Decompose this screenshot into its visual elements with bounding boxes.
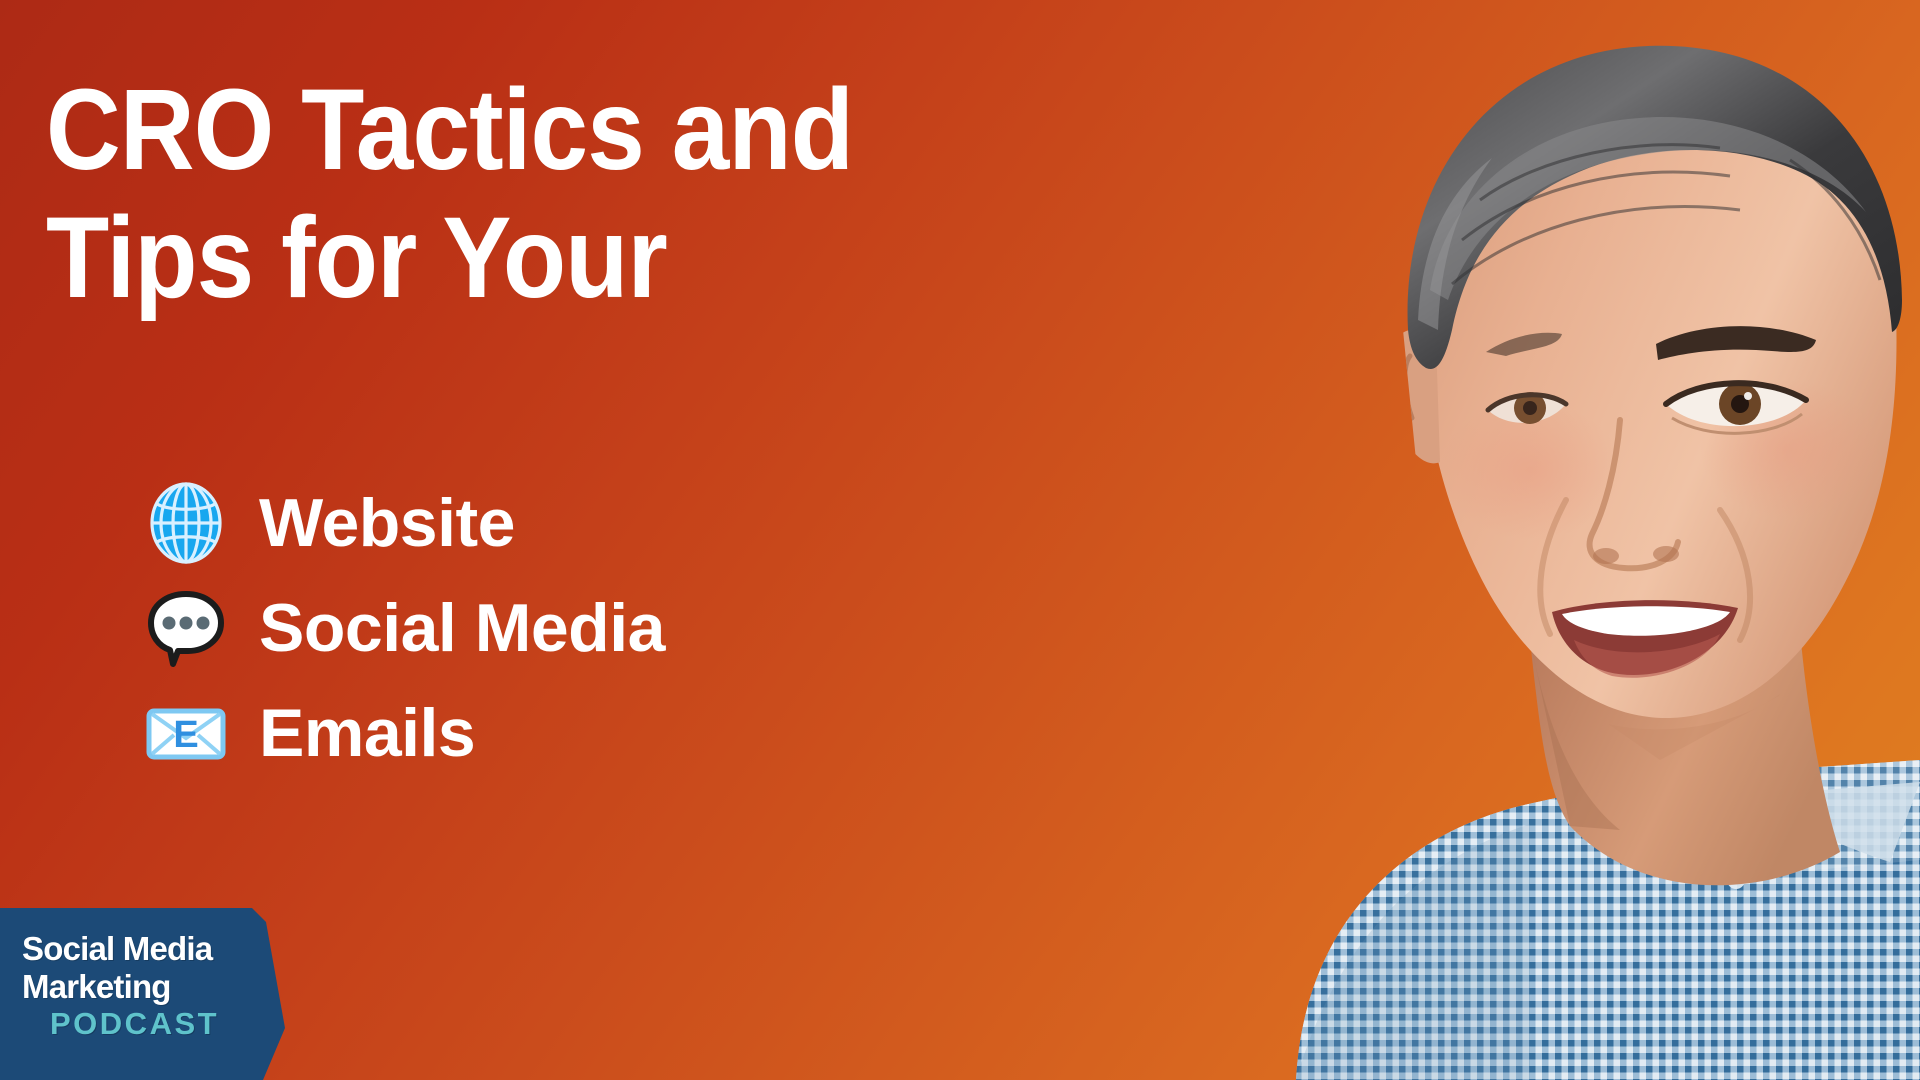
host-portrait-photo [1100, 0, 1920, 1080]
list-item-label: Website [259, 488, 515, 558]
globe-with-meridians-icon [143, 480, 229, 566]
portrait-head [1388, 46, 1902, 760]
list-item: Website [143, 470, 665, 575]
badge-line-marketing: Marketing [22, 968, 219, 1006]
speech-balloon-icon [143, 585, 229, 671]
topic-list: Website Social Media E [143, 470, 665, 785]
badge-line-podcast: PODCAST [50, 1006, 219, 1042]
badge-line-social-media: Social Media [22, 930, 219, 968]
list-item: Social Media [143, 575, 665, 680]
podcast-cover-artwork: CRO Tactics and Tips for Your [0, 0, 1920, 1080]
svg-text:E: E [173, 714, 198, 756]
episode-title: CRO Tactics and Tips for Your [46, 66, 1106, 322]
email-envelope-icon: E [143, 690, 229, 776]
title-line-1: CRO Tactics and [46, 66, 1000, 194]
list-item: E Emails [143, 680, 665, 785]
list-item-label: Social Media [259, 593, 665, 663]
title-line-2: Tips for Your [46, 194, 1000, 322]
podcast-logo-badge: Social Media Marketing PODCAST [0, 908, 285, 1080]
list-item-label: Emails [259, 698, 475, 768]
